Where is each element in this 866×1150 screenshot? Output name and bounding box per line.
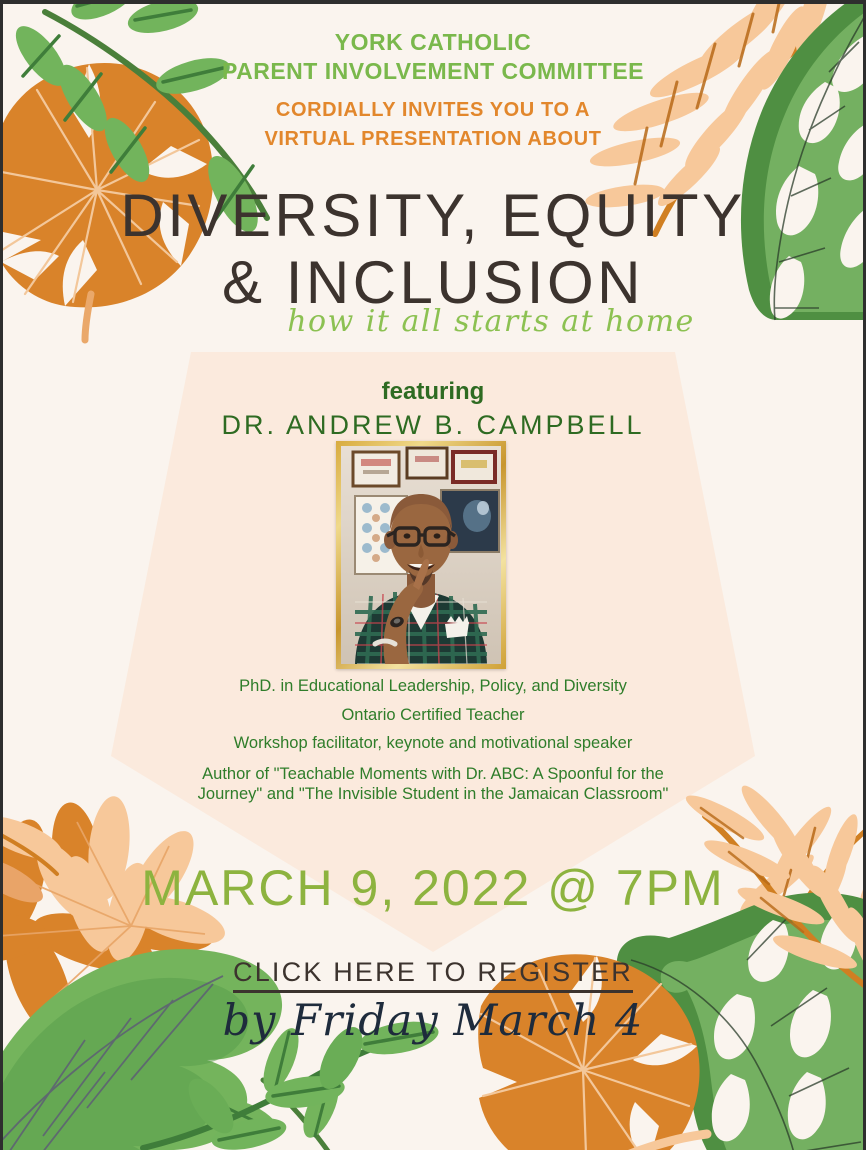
speaker-name: DR. ANDREW B. CAMPBELL — [3, 410, 863, 441]
credential-line: Workshop facilitator, keynote and motiva… — [3, 735, 863, 752]
invite-line-1: CORDIALLY INVITES YOU TO A — [3, 96, 863, 125]
author-credit: Author of "Teachable Moments with Dr. AB… — [3, 764, 863, 804]
credential-line: Ontario Certified Teacher — [3, 707, 863, 724]
title-line-1: DIVERSITY, EQUITY — [3, 182, 863, 249]
invite-line-2: VIRTUAL PRESENTATION ABOUT — [3, 125, 863, 154]
invitation-text: CORDIALLY INVITES YOU TO A VIRTUAL PRESE… — [3, 96, 863, 154]
register-link[interactable]: CLICK HERE TO REGISTER — [3, 957, 863, 988]
credential-line: PhD. in Educational Leadership, Policy, … — [3, 678, 863, 695]
event-date-time: MARCH 9, 2022 @ 7PM — [3, 859, 863, 917]
registration-deadline: by Friday March 4 — [3, 996, 863, 1046]
speaker-photo — [341, 446, 501, 664]
page-title: DIVERSITY, EQUITY & INCLUSION — [3, 182, 863, 316]
title-tagline: how it all starts at home — [61, 304, 863, 339]
register-link-label: CLICK HERE TO REGISTER — [233, 957, 633, 993]
organization-name: YORK CATHOLIC PARENT INVOLVEMENT COMMITT… — [3, 28, 863, 87]
speaker-credentials: PhD. in Educational Leadership, Policy, … — [3, 678, 863, 804]
speaker-photo-frame — [336, 441, 506, 669]
org-line-2: PARENT INVOLVEMENT COMMITTEE — [3, 57, 863, 86]
event-poster: YORK CATHOLIC PARENT INVOLVEMENT COMMITT… — [3, 4, 863, 1150]
header-block: YORK CATHOLIC PARENT INVOLVEMENT COMMITT… — [3, 28, 863, 154]
org-line-1: YORK CATHOLIC — [3, 28, 863, 57]
featuring-label: featuring — [3, 378, 863, 406]
